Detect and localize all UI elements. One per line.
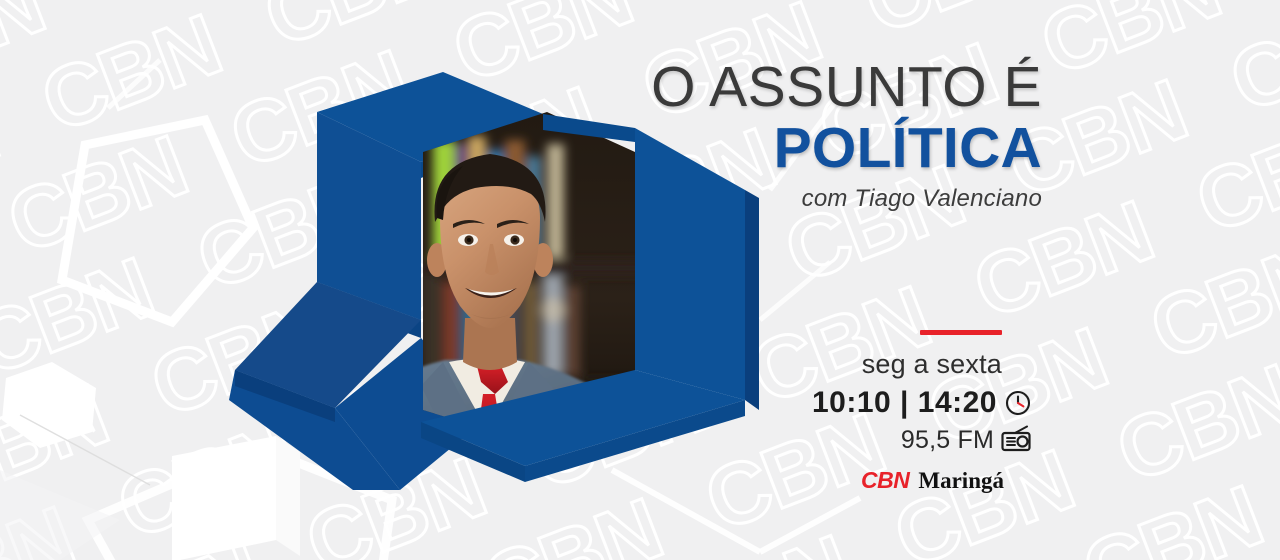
station-city: Maringá xyxy=(918,468,1004,494)
watermark-word: CBN xyxy=(1106,351,1280,498)
watermark-word: CBN xyxy=(73,530,273,560)
schedule-times-row: 10:10 | 14:20 xyxy=(740,386,1032,420)
schedule-frequency-row: 95,5 FM xyxy=(740,425,1032,455)
watermark-word: CBN xyxy=(0,493,84,560)
watermark-word: CBN xyxy=(31,1,231,148)
watermark-word: CBN xyxy=(1253,0,1280,5)
white-cube-small xyxy=(2,362,96,448)
schedule-days: seg a sexta xyxy=(740,349,1002,380)
watermark-word: CBN xyxy=(0,0,54,106)
watermark-word: CBN xyxy=(0,86,8,233)
watermark-word: CBN xyxy=(1186,103,1280,250)
red-divider xyxy=(920,330,1002,335)
accent-line-d xyxy=(760,262,830,320)
host-credit: com Tiago Valenciano xyxy=(522,185,1042,213)
schedule-times: 10:10 | 14:20 xyxy=(812,386,997,420)
watermark-word: CBN xyxy=(1140,229,1280,376)
clock-icon xyxy=(1004,389,1032,417)
watermark-word: CBN xyxy=(854,0,1054,50)
watermark-word: CBN xyxy=(1249,514,1280,560)
watermark-word: CBN xyxy=(665,0,865,13)
station-logo: CBN Maringá xyxy=(740,467,1004,494)
watermark-word: CBN xyxy=(0,245,164,392)
schedule-frequency: 95,5 FM xyxy=(901,426,994,455)
watermark-word: CBN xyxy=(77,0,277,21)
page-title-emphasis: POLÍTICA xyxy=(522,118,1042,178)
pupil-right xyxy=(513,238,517,242)
watermark-word: CBN xyxy=(472,485,672,560)
station-brand: CBN xyxy=(861,467,909,494)
watermark-word: CBN xyxy=(1073,473,1273,560)
watermark-word: CBN xyxy=(0,371,118,518)
page-title: O ASSUNTO É xyxy=(522,58,1042,116)
radio-icon xyxy=(1000,425,1032,455)
pupil-left xyxy=(467,238,471,242)
accent-line-e xyxy=(108,60,160,108)
watermark-word: CBN xyxy=(661,522,861,560)
program-title-block: O ASSUNTO É POLÍTICA com Tiago Valencian… xyxy=(522,58,1042,213)
watermark-word: CBN xyxy=(254,0,454,62)
watermark-word: CBN xyxy=(0,123,197,270)
radio-program-banner: CBNCBNCBNCBNCBNCBNCBNCBN CBNCBNCBNCBNCBN… xyxy=(0,0,1280,560)
accent-line-b xyxy=(760,498,860,552)
watermark-word: CBN xyxy=(1219,0,1280,127)
watermark-word: CBN xyxy=(1030,0,1230,91)
wedge-lower-left xyxy=(0,470,120,560)
schedule-block: seg a sexta 10:10 | 14:20 95,5 FM CBN M xyxy=(740,330,1040,494)
accent-hairline xyxy=(20,415,150,485)
